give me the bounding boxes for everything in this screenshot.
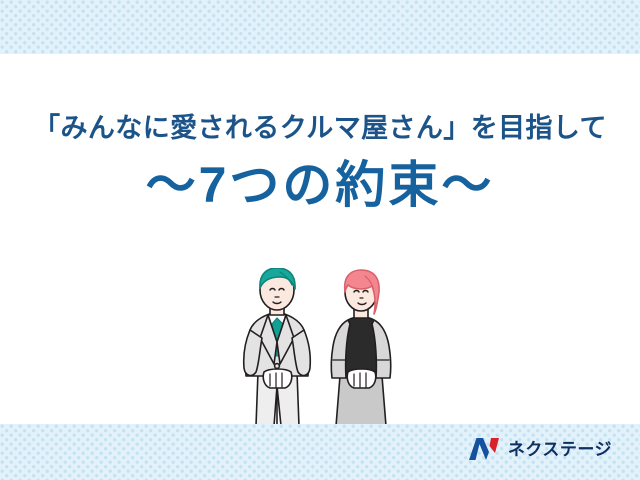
female-staff-figure — [331, 270, 390, 426]
slide-canvas: 「みんなに愛されるクルマ屋さん」を目指して 〜7つの約束〜 — [0, 0, 640, 480]
headline-primary-text: 「みんなに愛されるクルマ屋さん」を目指して — [0, 112, 640, 146]
top-dotted-band — [0, 0, 640, 54]
headline-block: 「みんなに愛されるクルマ屋さん」を目指して 〜7つの約束〜 — [0, 112, 640, 213]
brand-logo: ネクステージ — [467, 437, 612, 461]
male-staff-figure — [244, 268, 311, 426]
brand-name-text: ネクステージ — [508, 441, 612, 458]
staff-illustration — [236, 268, 412, 426]
headline-secondary-text: 〜7つの約束〜 — [0, 158, 640, 213]
nextage-n-mark-icon — [467, 437, 501, 461]
